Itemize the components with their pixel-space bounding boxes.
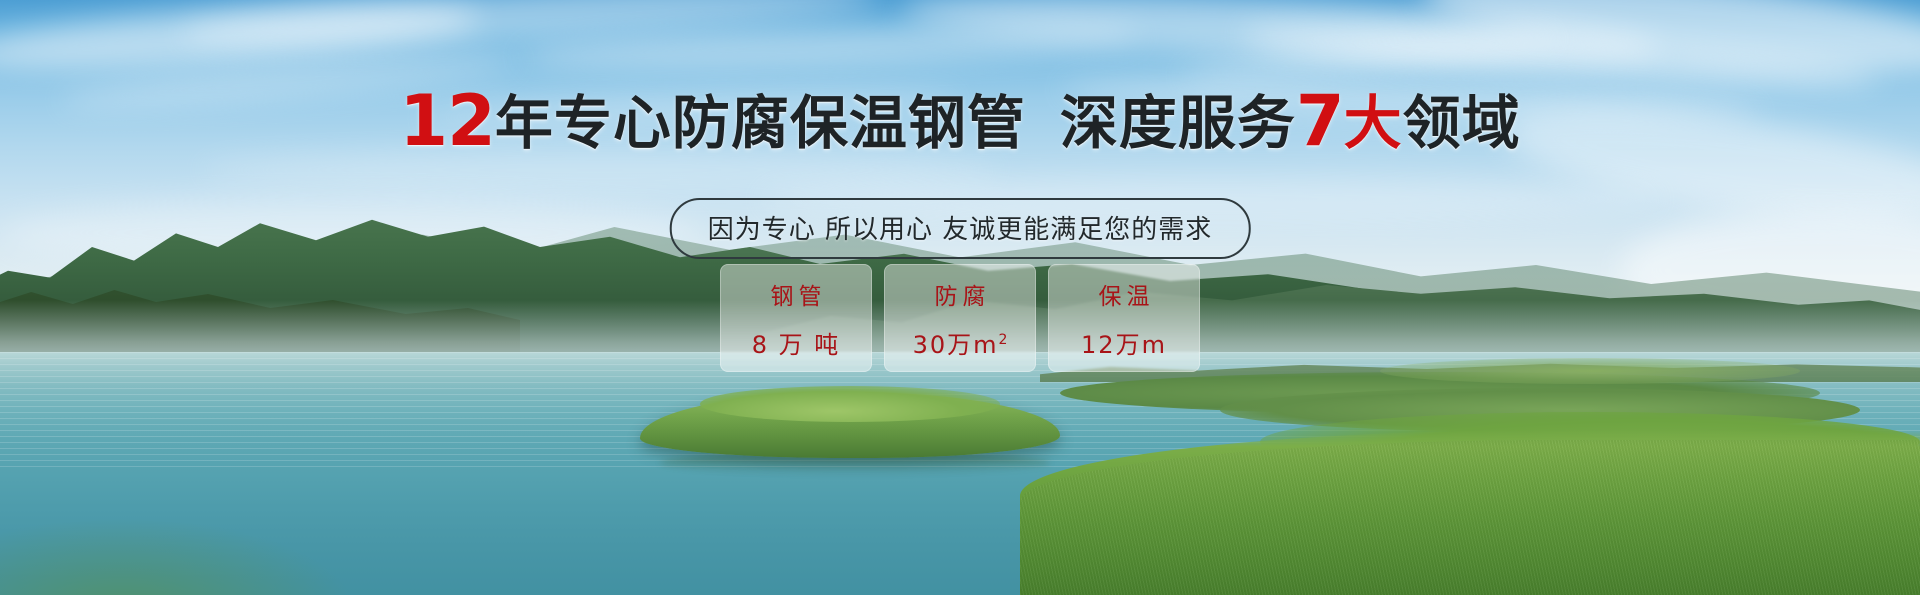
headline-segment-3: 领域 bbox=[1403, 89, 1521, 157]
headline-years-number: 12 bbox=[399, 80, 494, 162]
stat-card-title: 保温 bbox=[1094, 277, 1155, 311]
headline-segment-1: 年专心防腐保温钢管 bbox=[495, 89, 1026, 157]
stat-card-value-main: 8 万 吨 bbox=[752, 331, 841, 359]
headline-fields-number: 7 bbox=[1296, 80, 1344, 162]
stat-card-value: 8 万 吨 bbox=[752, 325, 841, 360]
stat-card-value-main: 30万m bbox=[913, 331, 999, 359]
stat-card-steel-pipe[interactable]: 钢管 8 万 吨 bbox=[720, 264, 872, 372]
stat-card-anticorrosion[interactable]: 防腐 30万m2 bbox=[884, 264, 1036, 372]
stat-card-group: 钢管 8 万 吨 防腐 30万m2 保温 12万m bbox=[720, 264, 1200, 372]
stat-card-value-exponent: 2 bbox=[999, 332, 1008, 348]
banner-headline: 12年专心防腐保温钢管深度服务7大领域 bbox=[0, 86, 1920, 156]
stat-card-value: 30万m2 bbox=[913, 325, 1008, 360]
subtitle-text: 因为专心 所以用心 友诚更能满足您的需求 bbox=[708, 215, 1213, 245]
banner-subtitle-pill: 因为专心 所以用心 友诚更能满足您的需求 bbox=[670, 198, 1251, 259]
stat-card-title: 钢管 bbox=[766, 277, 827, 311]
headline-highlight-word: 大 bbox=[1344, 89, 1403, 157]
stat-card-value: 12万m bbox=[1081, 325, 1167, 360]
stat-card-insulation[interactable]: 保温 12万m bbox=[1048, 264, 1200, 372]
stat-card-title: 防腐 bbox=[930, 277, 991, 311]
banner-content: 12年专心防腐保温钢管深度服务7大领域 因为专心 所以用心 友诚更能满足您的需求… bbox=[0, 0, 1920, 595]
stat-card-value-main: 12万m bbox=[1081, 331, 1167, 359]
hero-banner: 12年专心防腐保温钢管深度服务7大领域 因为专心 所以用心 友诚更能满足您的需求… bbox=[0, 0, 1920, 595]
headline-segment-2: 深度服务 bbox=[1060, 89, 1296, 157]
